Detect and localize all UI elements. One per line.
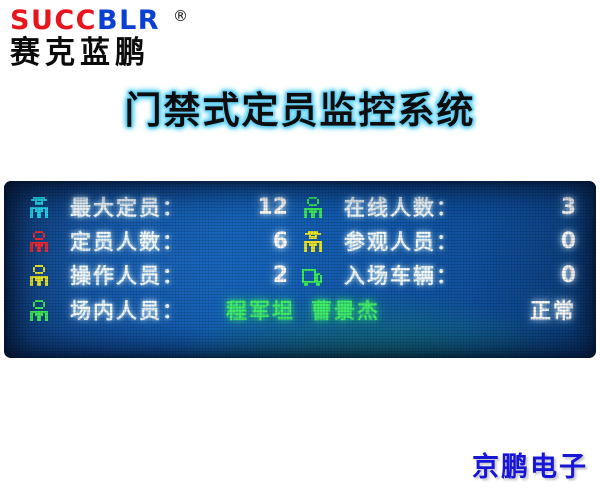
person-cap-icon — [300, 229, 326, 255]
led-row-online-count: 在线人数： 3 — [300, 191, 586, 225]
brand-logo-latin: SUCCBLR — [10, 6, 160, 36]
led-rows: 最大定员： 12 定员人数： 6 — [4, 181, 596, 358]
led-value-vehicles: 0 — [561, 259, 576, 293]
led-value-registered-count: 6 — [273, 225, 288, 259]
status-badge: 正常 — [530, 294, 576, 328]
onsite-name-2: 曹景杰 — [311, 299, 380, 323]
led-label-registered-count: 定员人数： — [70, 225, 185, 259]
footer-brand: 京鹏电子 — [472, 452, 588, 484]
led-label-online-count: 在线人数： — [344, 191, 459, 225]
led-row-operators: 操作人员： 2 — [26, 259, 294, 293]
led-value-online-count: 3 — [561, 191, 576, 225]
led-label-vehicles: 入场车辆： — [344, 259, 459, 293]
person-icon — [300, 195, 326, 221]
led-value-onsite-names: 程军坦曹景杰 — [226, 294, 380, 328]
brand-logo-chinese: 赛克蓝鹏 — [10, 35, 150, 72]
led-row-visitors: 参观人员： 0 — [300, 225, 586, 259]
person-cap-icon — [26, 195, 52, 221]
truck-icon — [300, 263, 326, 289]
led-row-names-status: 程军坦曹景杰 正常 — [26, 294, 586, 328]
led-row-vehicles: 入场车辆： 0 — [300, 259, 586, 293]
led-value-visitors: 0 — [561, 225, 576, 259]
onsite-name-1: 程军坦 — [226, 299, 295, 323]
brand-logo-latin-red: SUCC — [10, 5, 97, 36]
brand-logo-latin-blue: BLR — [97, 5, 160, 36]
led-label-visitors: 参观人员： — [344, 225, 459, 259]
brand-logo: SUCCBLR ® 赛克蓝鹏 — [8, 6, 228, 72]
led-label-max-capacity: 最大定员： — [70, 191, 185, 225]
led-value-max-capacity: 12 — [257, 191, 288, 225]
led-display-panel: 最大定员： 12 定员人数： 6 — [4, 181, 596, 358]
led-row-max-capacity: 最大定员： 12 — [26, 191, 294, 225]
led-label-operators: 操作人员： — [70, 259, 185, 293]
registered-trademark-icon: ® — [173, 9, 188, 24]
led-row-registered-count: 定员人数： 6 — [26, 225, 294, 259]
person-icon — [26, 229, 52, 255]
person-icon — [26, 263, 52, 289]
page-title: 门禁式定员监控系统 — [0, 88, 600, 134]
led-value-operators: 2 — [273, 259, 288, 293]
